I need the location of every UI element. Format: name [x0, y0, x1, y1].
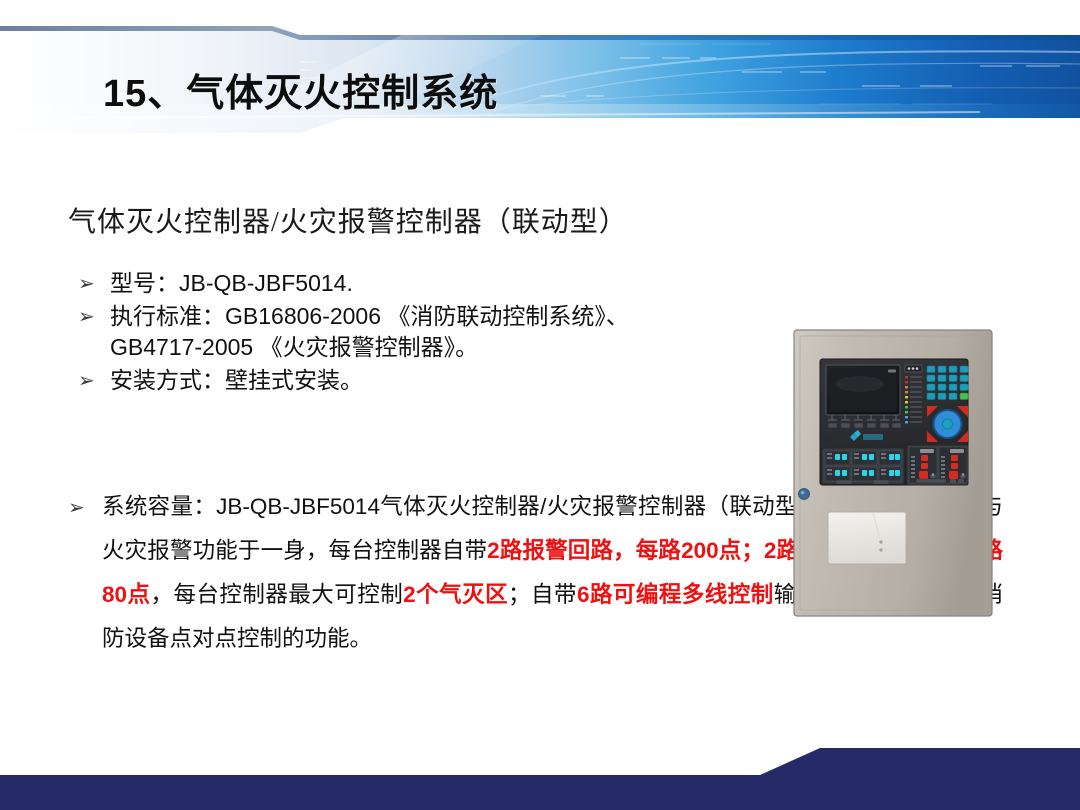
- spec-list: ➢ 型号：JB-QB-JBF5014. ➢ 执行标准：GB16806-2006 …: [78, 268, 688, 398]
- capacity-seg-5-highlight: 6路可编程多线控制: [577, 582, 774, 607]
- spec-item-standard-text: 执行标准：GB16806-2006 《消防联动控制系统》、GB4717-2005…: [110, 301, 688, 363]
- spec-item-model: ➢ 型号：JB-QB-JBF5014.: [78, 268, 688, 299]
- control-panel-photo: [788, 326, 998, 621]
- spec-item-installation: ➢ 安装方式：壁挂式安装。: [78, 365, 688, 396]
- slide-root: 15、气体灭火控制系统 气体灭火控制器/火灾报警控制器（联动型） ➢ 型号：JB…: [0, 0, 1080, 810]
- capacity-seg-2: ，每台控制器最大可控制: [150, 582, 403, 607]
- footer-bar: www.jbufa.com 智淼消防 zmjaxf.com: [0, 745, 1080, 810]
- spec-item-model-text: 型号：JB-QB-JBF5014.: [110, 268, 688, 299]
- bullet-arrow-icon: ➢: [78, 365, 110, 396]
- bullet-arrow-icon: ➢: [78, 268, 110, 299]
- spec-item-standard: ➢ 执行标准：GB16806-2006 《消防联动控制系统》、GB4717-20…: [78, 301, 688, 363]
- spec-item-installation-text: 安装方式：壁挂式安装。: [110, 365, 688, 396]
- page-title: 15、气体灭火控制系统: [103, 62, 498, 117]
- header-banner: 15、气体灭火控制系统: [0, 0, 1080, 150]
- product-subtitle: 气体灭火控制器/火灾报警控制器（联动型）: [68, 200, 628, 240]
- bullet-arrow-icon: ➢: [68, 485, 102, 529]
- capacity-seg-4: ；自带: [508, 582, 577, 607]
- bullet-arrow-icon: ➢: [78, 301, 110, 332]
- capacity-seg-3-highlight: 2个气灭区: [403, 582, 508, 607]
- slide-content: 气体灭火控制器/火灾报警控制器（联动型） ➢ 型号：JB-QB-JBF5014.…: [0, 150, 1080, 770]
